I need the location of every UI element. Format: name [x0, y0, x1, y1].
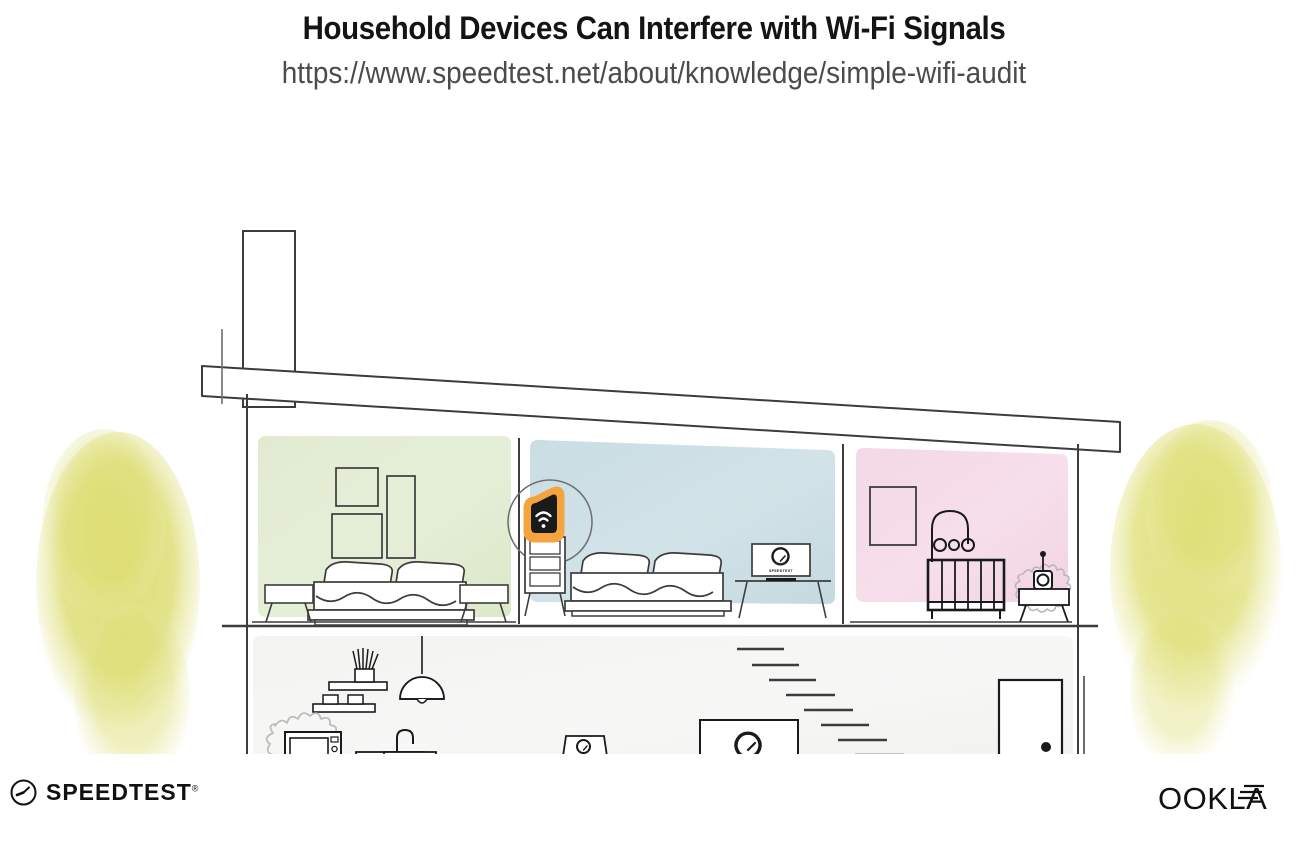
ground-floor-open-plan: SPEEDTEST: [253, 636, 1073, 754]
speedometer-gauge-icon: [10, 779, 37, 806]
footer: SPEEDTEST® OOKLA ®: [0, 761, 1308, 861]
door-knob-icon[interactable]: [1041, 742, 1051, 752]
television-speedtest[interactable]: SPEEDTEST: [700, 720, 798, 754]
poster-page: Household Devices Can Interfere with Wi-…: [0, 0, 1308, 861]
ookla-logo[interactable]: OOKLA ®: [1158, 775, 1308, 823]
tree-left-icon: [36, 429, 200, 754]
header: Household Devices Can Interfere with Wi-…: [0, 0, 1308, 92]
nursery-pink: [850, 448, 1072, 622]
dresser: [525, 537, 565, 616]
bedroom-green: [252, 436, 516, 625]
source-url: https://www.speedtest.net/about/knowledg…: [65, 54, 1242, 92]
microwave[interactable]: [285, 732, 341, 754]
speedtest-wordmark: SPEEDTEST®: [46, 779, 198, 806]
ookla-wordmark: OOKLA ®: [1158, 775, 1308, 823]
speedtest-logo[interactable]: SPEEDTEST®: [10, 779, 198, 806]
bedroom-blue: SPEEDTEST: [530, 440, 835, 618]
speedtest-wordmark-text: SPEEDTEST: [46, 779, 192, 805]
speedtest-trademark: ®: [192, 783, 199, 793]
house-cutaway-illustration: SPEEDTEST: [0, 104, 1308, 754]
tree-right-icon: [1110, 420, 1282, 754]
side-table: [1019, 589, 1069, 622]
monitor-speedtest[interactable]: SPEEDTEST: [752, 544, 810, 581]
kitchen-right-counter: [384, 752, 436, 754]
front-door[interactable]: [999, 680, 1062, 754]
wifi-router[interactable]: [527, 490, 561, 539]
bed: [565, 553, 731, 616]
bed: [308, 562, 474, 625]
page-title: Household Devices Can Interfere with Wi-…: [52, 8, 1255, 48]
monitor-brand-label: SPEEDTEST: [769, 569, 794, 573]
